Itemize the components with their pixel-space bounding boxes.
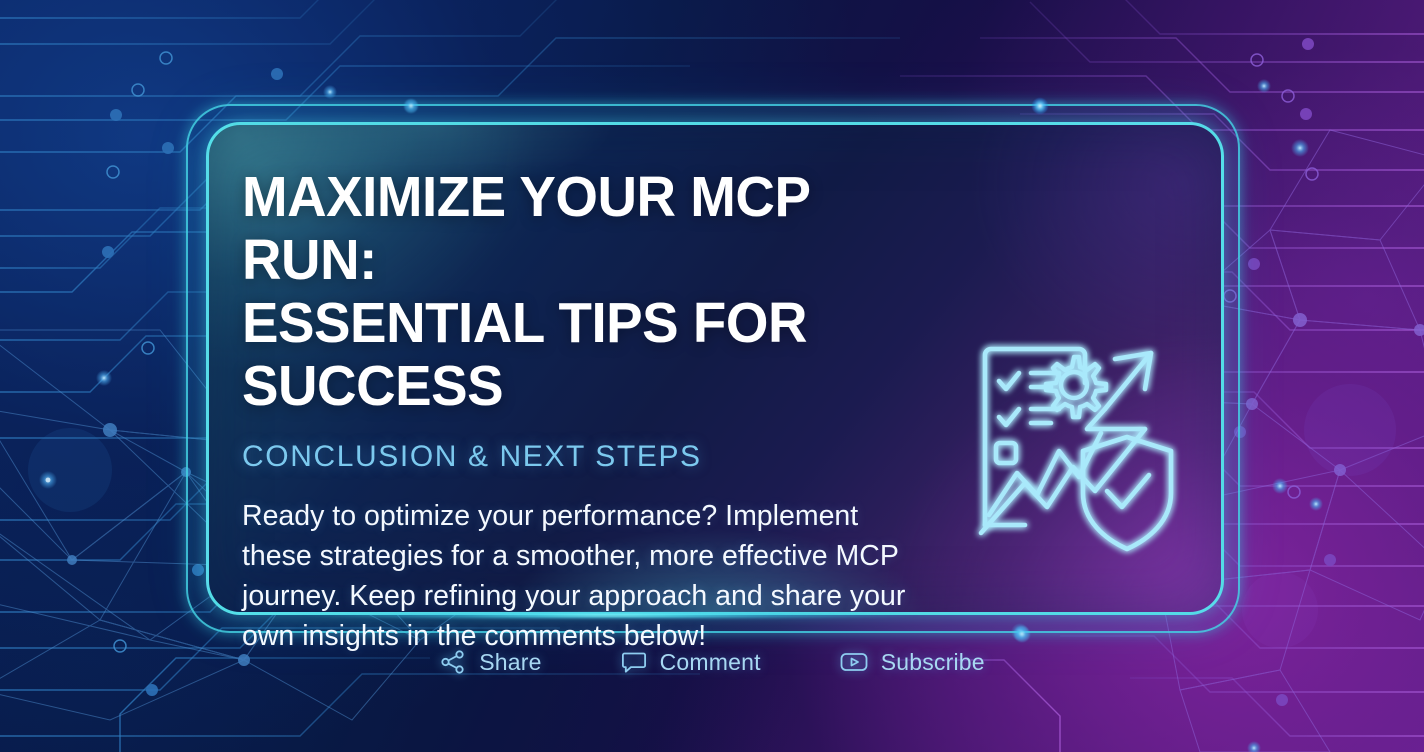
subscribe-action[interactable]: Subscribe bbox=[839, 648, 985, 676]
card-content: MAXIMIZE YOUR MCP RUN: ESSENTIAL TIPS FO… bbox=[242, 166, 942, 656]
comment-action[interactable]: Comment bbox=[620, 648, 761, 676]
share-nodes-icon bbox=[439, 648, 467, 676]
empty-checkbox bbox=[996, 443, 1016, 463]
page-title: MAXIMIZE YOUR MCP RUN: ESSENTIAL TIPS FO… bbox=[242, 166, 914, 418]
body-paragraph: Ready to optimize your performance? Impl… bbox=[242, 496, 922, 656]
check-1 bbox=[999, 373, 1019, 389]
border-light-spark-bottom bbox=[1014, 626, 1030, 642]
border-light-spark bbox=[1032, 98, 1048, 114]
check-2 bbox=[999, 409, 1019, 425]
gear-icon bbox=[1046, 357, 1106, 417]
slide-canvas: MAXIMIZE YOUR MCP RUN: ESSENTIAL TIPS FO… bbox=[0, 0, 1424, 752]
section-subtitle: CONCLUSION & NEXT STEPS bbox=[242, 440, 942, 474]
speech-bubble-icon bbox=[620, 648, 648, 676]
share-action[interactable]: Share bbox=[439, 648, 541, 676]
share-label: Share bbox=[479, 649, 541, 676]
border-light-spark-left bbox=[404, 99, 418, 113]
action-bar: Share Comment Subscribe bbox=[0, 648, 1424, 676]
subscribe-label: Subscribe bbox=[881, 649, 985, 676]
play-button-icon bbox=[839, 648, 869, 676]
growth-checklist-shield-illustration bbox=[955, 325, 1195, 560]
comment-label: Comment bbox=[660, 649, 761, 676]
